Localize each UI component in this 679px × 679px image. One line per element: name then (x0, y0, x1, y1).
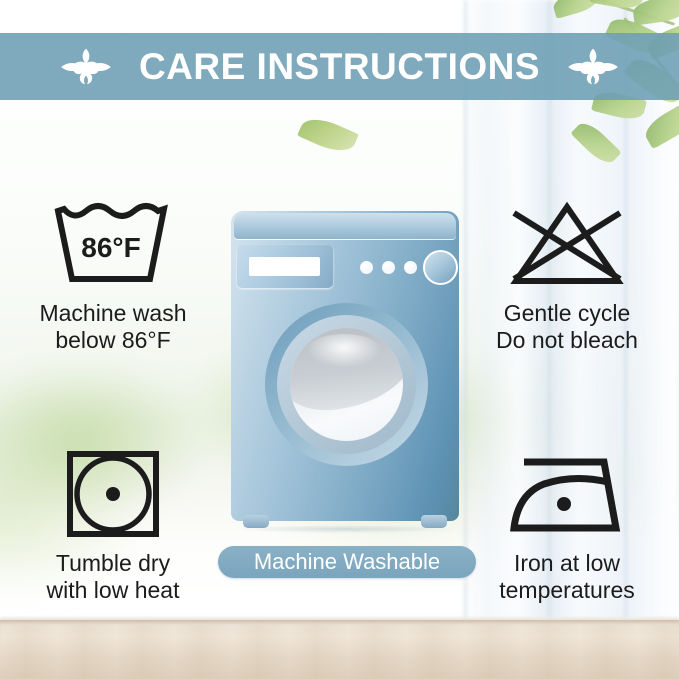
badge-label: Machine Washable (254, 549, 440, 575)
plant-leaf (570, 118, 621, 169)
machine-button-1[interactable] (360, 261, 373, 274)
machine-program-knob[interactable] (423, 250, 458, 285)
machine-button-2[interactable] (382, 261, 395, 274)
iron-low-icon (504, 448, 630, 540)
machine-door[interactable] (265, 303, 428, 466)
fleur-de-lis-icon (59, 45, 113, 89)
machine-glass-highlight (306, 334, 382, 368)
tumble-dry-low-icon (63, 448, 163, 540)
care-instructions-infographic: CARE INSTRUCTIONS 86°F Machine wash belo… (0, 0, 679, 679)
machine-door-glass (290, 328, 403, 441)
care-symbol-tumble-dry: Tumble dry with low heat (8, 448, 218, 604)
washing-machine-illustration (231, 211, 459, 526)
wood-grain-texture (0, 624, 679, 679)
plant-leaf (641, 100, 679, 150)
fleur-de-lis-icon (566, 45, 620, 89)
wash-temperature-value: 86°F (81, 232, 140, 263)
machine-top-lid (234, 213, 456, 239)
care-symbol-label: Machine wash below 86°F (39, 300, 186, 354)
care-symbol-label: Gentle cycle Do not bleach (496, 300, 638, 354)
machine-door-ring (277, 315, 416, 454)
triangle-crossed-out-icon (502, 198, 632, 290)
care-symbol-label: Iron at low temperatures (499, 550, 635, 604)
wash-tub-icon: 86°F (48, 198, 178, 290)
page-title: CARE INSTRUCTIONS (139, 46, 540, 88)
machine-shadow (237, 525, 453, 533)
machine-button-3[interactable] (404, 261, 417, 274)
machine-washable-badge: Machine Washable (218, 546, 476, 578)
header-banner: CARE INSTRUCTIONS (0, 33, 679, 100)
machine-display-screen (249, 257, 320, 276)
care-symbol-do-not-bleach: Gentle cycle Do not bleach (462, 198, 672, 354)
care-symbol-iron-low: Iron at low temperatures (462, 448, 672, 604)
care-symbol-machine-wash: 86°F Machine wash below 86°F (8, 198, 218, 354)
care-symbol-label: Tumble dry with low heat (47, 550, 180, 604)
